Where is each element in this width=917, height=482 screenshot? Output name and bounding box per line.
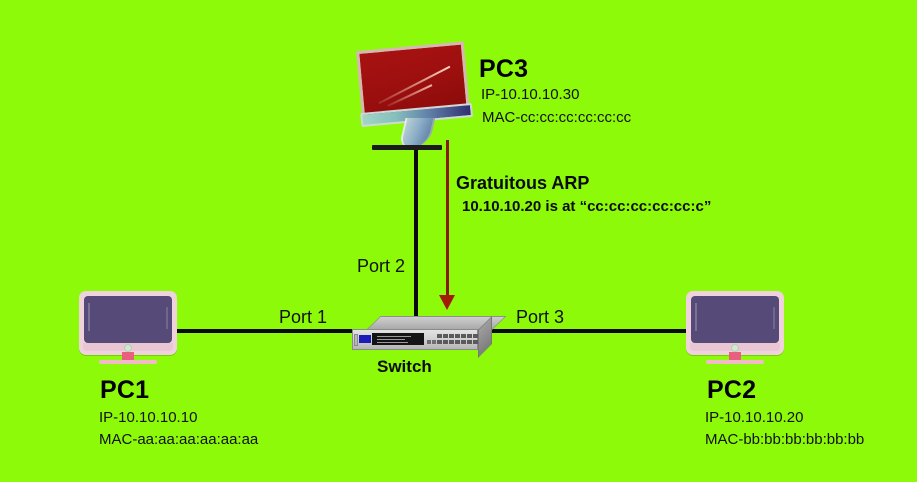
switch-port-array: [437, 334, 478, 344]
pc2-ip-label: IP-10.10.10.20: [705, 409, 803, 426]
pc2-monitor-icon: [686, 291, 784, 363]
pc2-frame: [686, 291, 784, 355]
pc3-ip-label: IP-10.10.10.30: [481, 86, 579, 103]
pc2-power-dot-icon: [731, 344, 739, 352]
switch-indicator: [432, 340, 436, 344]
pc2-title: PC2: [707, 376, 756, 405]
pc3-stand-foot: [372, 145, 442, 150]
pc3-stand-neck: [399, 118, 436, 148]
switch-left-tab: [354, 334, 358, 346]
port-3-label: Port 3: [516, 307, 564, 328]
screen-glint-icon: [166, 307, 168, 329]
pc2-stand-base: [706, 360, 764, 364]
arp-arrow-shaft: [446, 140, 449, 297]
arp-message-label: 10.10.10.20 is at “cc:cc:cc:cc:cc:c”: [462, 198, 711, 215]
network-switch-icon: [352, 316, 492, 352]
screen-glint-icon: [379, 66, 451, 104]
switch-front-face: [352, 329, 478, 350]
pc1-screen: [84, 296, 172, 343]
cable-pc3-to-switch: [414, 141, 418, 331]
pc2-screen: [691, 296, 779, 343]
pc1-mac-label: MAC-aa:aa:aa:aa:aa:aa: [99, 431, 258, 448]
screen-glint-icon: [88, 303, 90, 331]
port-1-label: Port 1: [279, 307, 327, 328]
pc1-frame: [79, 291, 177, 355]
network-diagram-canvas: PC3 IP-10.10.10.30 MAC-cc:cc:cc:cc:cc:cc…: [0, 0, 917, 482]
arp-title-label: Gratuitous ARP: [456, 173, 589, 194]
cable-switch-to-pc2: [484, 329, 688, 333]
pc3-mac-label: MAC-cc:cc:cc:cc:cc:cc: [482, 109, 631, 126]
pc1-title: PC1: [100, 376, 149, 405]
port-2-label: Port 2: [357, 256, 405, 277]
switch-status-led: [359, 335, 371, 343]
arp-arrow-head-icon: [439, 295, 455, 310]
switch-label: Switch: [377, 357, 432, 377]
pc1-ip-label: IP-10.10.10.10: [99, 409, 197, 426]
screen-glint-icon: [773, 307, 775, 329]
pc3-monitor-icon: [358, 46, 478, 151]
pc2-mac-label: MAC-bb:bb:bb:bb:bb:bb: [705, 431, 864, 448]
pc3-title: PC3: [479, 55, 528, 84]
pc1-monitor-icon: [79, 291, 177, 363]
pc1-power-dot-icon: [124, 344, 132, 352]
pc1-stand-base: [99, 360, 157, 364]
cable-pc1-to-switch: [176, 329, 360, 333]
switch-display-panel: [372, 333, 424, 345]
screen-glint-icon: [695, 303, 697, 331]
switch-indicator: [427, 340, 431, 344]
